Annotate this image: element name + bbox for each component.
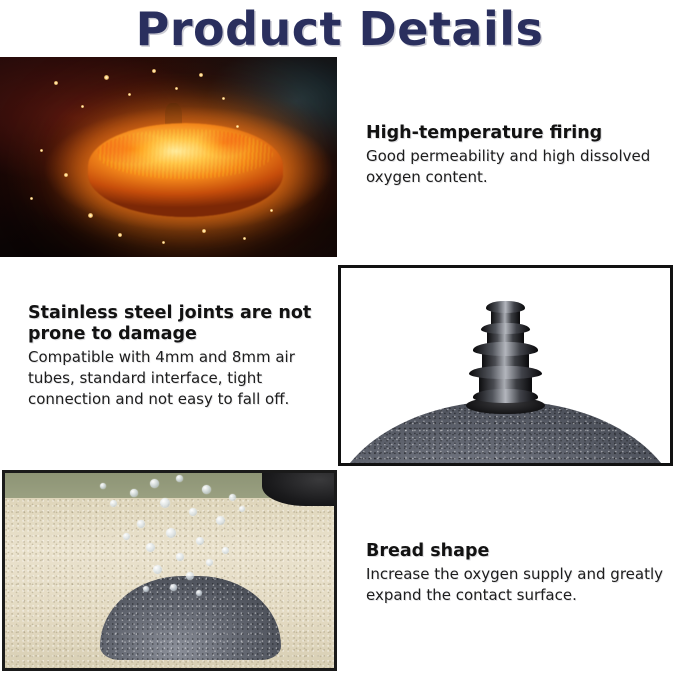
nozzle-barb-ring (481, 323, 530, 335)
bubble (150, 479, 159, 488)
spark-particle (118, 233, 122, 237)
spark-particle (128, 93, 131, 96)
bubble (170, 584, 177, 591)
spark-particle (54, 81, 58, 85)
product-image-high-temperature-firing (0, 57, 337, 257)
spark-particle (199, 73, 203, 77)
spark-particle (175, 87, 178, 90)
spark-particle (202, 229, 206, 233)
product-image-stainless-steel-joint (338, 265, 673, 466)
spark-particle (222, 97, 225, 100)
bubble (216, 516, 225, 525)
bubble (206, 559, 213, 566)
spark-particle (40, 149, 43, 152)
nozzle-barb-ring (486, 301, 525, 313)
spark-particle (30, 197, 33, 200)
bubble (176, 475, 183, 482)
feature-heading: Stainless steel joints are not prone to … (28, 303, 328, 345)
bubble (130, 489, 138, 497)
bubble (176, 553, 184, 561)
nozzle-barb-ring (473, 342, 539, 356)
feature-text-high-temperature-firing: High-temperature firing Good permeabilit… (366, 123, 666, 188)
spark-particle (243, 237, 246, 240)
bubble (137, 520, 145, 528)
feature-body: Compatible with 4mm and 8mm air tubes, s… (28, 347, 328, 410)
feature-heading: Bread shape (366, 541, 666, 562)
glowing-stone-shape (88, 123, 283, 217)
spark-particle (64, 173, 68, 177)
feature-text-stainless-steel-joints: Stainless steel joints are not prone to … (28, 303, 328, 410)
feature-text-bread-shape: Bread shape Increase the oxygen supply a… (366, 541, 666, 606)
bubble (160, 498, 170, 508)
product-image-bread-shape (2, 470, 337, 671)
page-title: Product Details (0, 2, 679, 56)
bubble (196, 590, 202, 596)
bubble (100, 483, 106, 489)
bubble (202, 485, 211, 494)
spark-particle (236, 125, 239, 128)
bubble (166, 528, 176, 538)
spark-particle (162, 241, 165, 244)
bubble (239, 506, 245, 512)
nozzle-barb-ring (473, 389, 539, 403)
spark-particle (270, 209, 273, 212)
spark-particle (152, 69, 156, 73)
feature-heading: High-temperature firing (366, 123, 666, 144)
nozzle-barb-ring (469, 366, 541, 380)
feature-body: Good permeability and high dissolved oxy… (366, 146, 666, 188)
feature-body: Increase the oxygen supply and greatly e… (366, 564, 666, 606)
spark-particle (104, 75, 109, 80)
spark-particle (81, 105, 84, 108)
spark-particle (88, 213, 93, 218)
bubble (153, 565, 162, 574)
